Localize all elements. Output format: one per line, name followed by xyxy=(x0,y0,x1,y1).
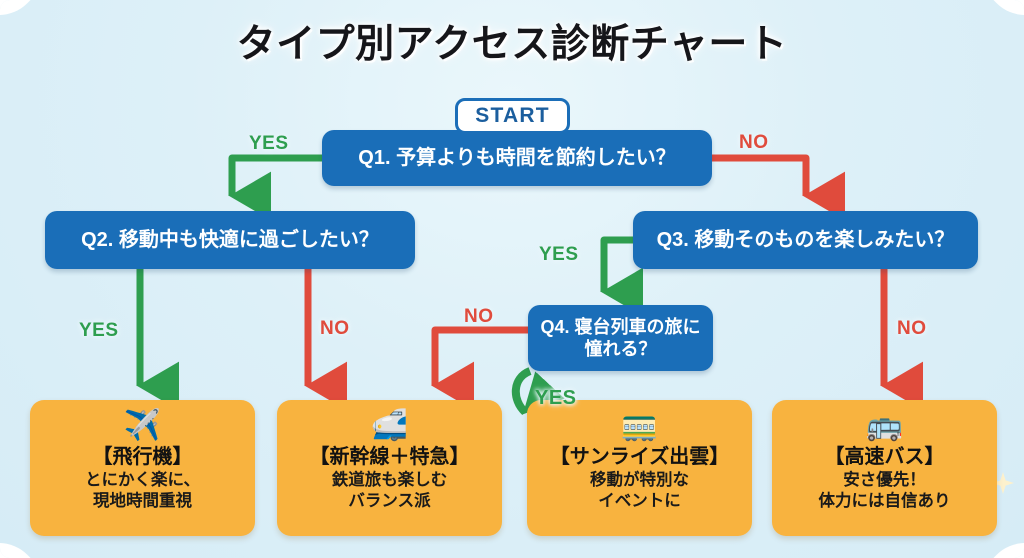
edge-q1-yes xyxy=(232,158,322,196)
result-title-airplane: 【飛行機】 xyxy=(93,444,193,470)
question-node-q3[interactable]: Q3. 移動そのものを楽しみたい？ xyxy=(633,211,978,269)
result-card-highway-bus[interactable]: 🚌 【高速バス】 安さ優先！ 体力には自信あり xyxy=(772,400,997,536)
edge-q4-no xyxy=(435,330,528,386)
result-line1-airplane: とにかく楽に、 xyxy=(85,470,200,491)
edge-label-q2-no: NO xyxy=(320,318,350,340)
edge-label-q3-yes: YES xyxy=(539,244,579,266)
result-line2-shinkansen: バランス派 xyxy=(348,491,430,512)
edge-label-q3-no: NO xyxy=(897,318,927,340)
result-title-highway-bus: 【高速バス】 xyxy=(825,444,945,470)
question-node-q4[interactable]: Q4. 寝台列車の旅に 憧れる？ xyxy=(528,305,713,371)
edge-label-q2-yes: YES xyxy=(79,320,119,342)
result-line2-airplane: 現地時間重視 xyxy=(93,491,192,512)
question-q3-text: Q3. 移動そのものを楽しみたい？ xyxy=(657,228,955,253)
result-card-shinkansen[interactable]: 🚅 【新幹線＋特急】 鉄道旅も楽しむ バランス派 xyxy=(277,400,502,536)
result-line1-shinkansen: 鉄道旅も楽しむ xyxy=(332,470,448,491)
edge-q3-yes xyxy=(604,240,633,292)
airplane-icon: ✈️ xyxy=(124,409,161,443)
question-node-q1[interactable]: Q1. 予算よりも時間を節約したい？ xyxy=(322,130,712,186)
start-label: START xyxy=(475,104,549,128)
edge-label-q1-yes: YES xyxy=(249,133,289,155)
edge-label-q4-no: NO xyxy=(464,306,494,328)
result-title-shinkansen: 【新幹線＋特急】 xyxy=(310,444,470,470)
question-q4-line2: 憧れる？ xyxy=(584,339,656,359)
edge-q4-yes xyxy=(516,371,530,412)
question-node-q2[interactable]: Q2. 移動中も快適に過ごしたい？ xyxy=(45,211,415,269)
result-title-sunrise-izumo: 【サンライズ出雲】 xyxy=(550,444,729,470)
result-card-airplane[interactable]: ✈️ 【飛行機】 とにかく楽に、 現地時間重視 xyxy=(30,400,255,536)
question-q2-text: Q2. 移動中も快適に過ごしたい？ xyxy=(81,228,379,253)
edge-label-q1-no: NO xyxy=(739,132,769,154)
result-line1-highway-bus: 安さ優先！ xyxy=(843,470,926,491)
edge-q1-no xyxy=(712,158,806,196)
start-node[interactable]: START xyxy=(455,98,570,134)
diagram-canvas: タイプ別アクセス診断チャート xyxy=(0,0,1024,558)
bus-icon: 🚌 xyxy=(866,409,903,443)
result-card-sunrise-izumo[interactable]: 🚃 【サンライズ出雲】 移動が特別な イベントに xyxy=(527,400,752,536)
question-q1-text: Q1. 予算よりも時間を節約したい？ xyxy=(358,146,675,171)
question-q4-line1: Q4. 寝台列車の旅に xyxy=(540,317,700,337)
bullet-train-icon: 🚅 xyxy=(371,409,408,443)
result-line2-highway-bus: 体力には自信あり xyxy=(819,491,951,512)
result-line1-sunrise-izumo: 移動が特別な xyxy=(590,470,689,491)
result-line2-sunrise-izumo: イベントに xyxy=(598,491,681,512)
edge-label-q4-yes: YES xyxy=(535,387,577,410)
train-icon: 🚃 xyxy=(621,409,658,443)
